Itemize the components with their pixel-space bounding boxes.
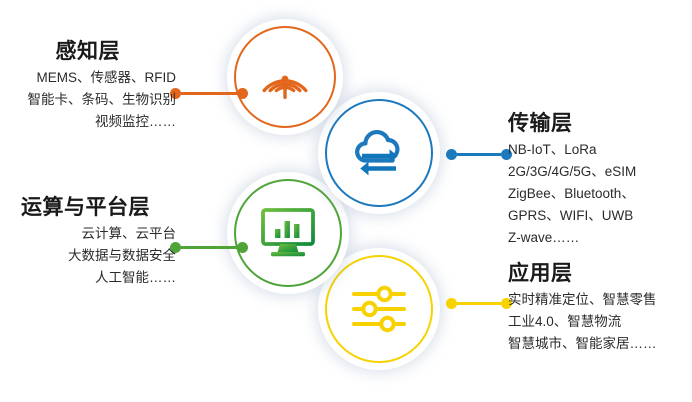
layer-title-transmission: 传输层 [508, 112, 636, 135]
label-block-transmission: 传输层 NB-IoT、LoRa 2G/3G/4G/5G、eSIM ZigBee、… [508, 112, 636, 248]
iot-architecture-diagram: 感知层 MEMS、传感器、RFID 智能卡、条码、生物识别 视频监控…… 传输层… [0, 0, 692, 402]
monitor-bar-chart-icon [257, 204, 319, 262]
desc-line: 云计算、云平台 [21, 223, 176, 245]
connector-application [446, 296, 512, 310]
connector-sensing [170, 86, 248, 100]
connector-line [181, 92, 237, 95]
connector-dot-inner [237, 88, 248, 99]
desc-line: 大数据与数据安全 [21, 245, 176, 267]
desc-line: GPRS、WIFI、UWB [508, 205, 636, 227]
connector-transmission [446, 147, 512, 161]
connector-platform [170, 240, 248, 254]
node-transmission-layer[interactable] [318, 92, 440, 214]
layer-desc-sensing: MEMS、传感器、RFID 智能卡、条码、生物识别 视频监控…… [28, 67, 177, 133]
layer-desc-transmission: NB-IoT、LoRa 2G/3G/4G/5G、eSIM ZigBee、Blue… [508, 139, 636, 248]
desc-line: ZigBee、Bluetooth、 [508, 183, 636, 205]
layer-title-sensing: 感知层 [28, 40, 177, 63]
desc-line: 视频监控…… [28, 111, 177, 133]
label-block-application: 应用层 实时精准定位、智慧零售 工业4.0、智慧物流 智慧城市、智能家居…… [508, 262, 657, 355]
cloud-transfer-icon [347, 123, 411, 183]
desc-line: 人工智能…… [21, 267, 176, 289]
connector-line [457, 153, 501, 156]
antenna-signal-icon [254, 46, 316, 108]
sliders-settings-icon [348, 281, 410, 337]
layer-desc-application: 实时精准定位、智慧零售 工业4.0、智慧物流 智慧城市、智能家居…… [508, 289, 657, 355]
desc-line: Z-wave…… [508, 227, 636, 249]
layer-title-platform: 运算与平台层 [21, 196, 176, 219]
layer-title-application: 应用层 [508, 262, 657, 285]
desc-line: 智慧城市、智能家居…… [508, 333, 657, 355]
connector-dot-inner [446, 298, 457, 309]
desc-line: 工业4.0、智慧物流 [508, 311, 657, 333]
desc-line: 实时精准定位、智慧零售 [508, 289, 657, 311]
node-sensing-layer[interactable] [227, 19, 343, 135]
desc-line: 2G/3G/4G/5G、eSIM [508, 161, 636, 183]
connector-dot-inner [446, 149, 457, 160]
label-block-sensing: 感知层 MEMS、传感器、RFID 智能卡、条码、生物识别 视频监控…… [28, 40, 177, 133]
label-block-platform: 运算与平台层 云计算、云平台 大数据与数据安全 人工智能…… [21, 196, 176, 289]
desc-line: 智能卡、条码、生物识别 [28, 89, 177, 111]
layer-desc-platform: 云计算、云平台 大数据与数据安全 人工智能…… [21, 223, 176, 289]
connector-dot-inner [237, 242, 248, 253]
desc-line: NB-IoT、LoRa [508, 139, 636, 161]
connector-line [181, 246, 237, 249]
desc-line: MEMS、传感器、RFID [28, 67, 177, 89]
connector-line [457, 302, 501, 305]
